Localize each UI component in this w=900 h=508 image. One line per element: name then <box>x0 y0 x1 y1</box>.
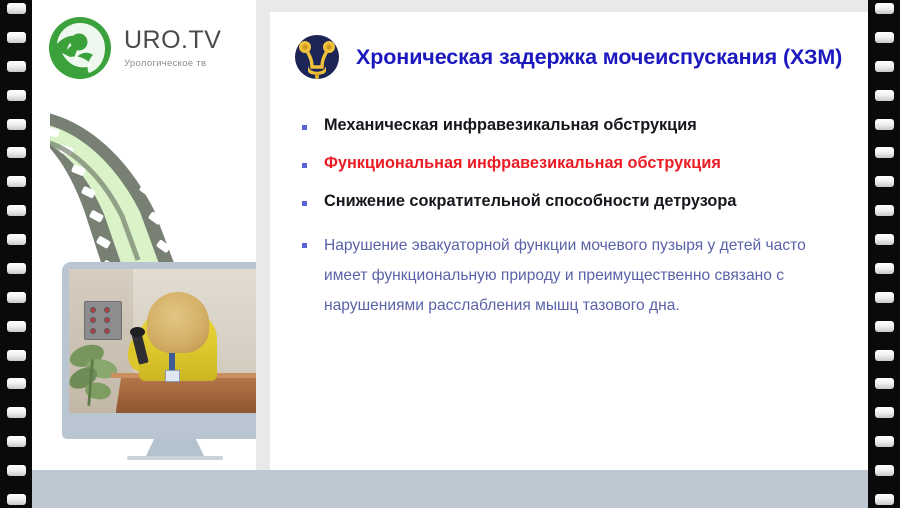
film-sprocket-hole <box>875 176 894 187</box>
film-sprocket-hole <box>7 436 26 447</box>
slide-title: Хроническая задержка мочеиспускания (ХЗМ… <box>356 45 842 70</box>
film-sprocket-hole <box>875 465 894 476</box>
list-item: Механическая инфравезикальная обструкция <box>302 116 846 135</box>
monitor-stand <box>146 439 204 456</box>
film-sprocket-hole <box>7 321 26 332</box>
film-sprocket-hole <box>7 494 26 505</box>
speaker-video-thumbnail[interactable] <box>62 262 256 460</box>
film-sprocket-hole <box>7 263 26 274</box>
bullet-text: Снижение сократительной способности детр… <box>324 192 736 211</box>
player-bottom-bar[interactable] <box>32 470 868 508</box>
branding-panel: URO.TV Урологическое тв <box>32 0 256 470</box>
bullet-marker-icon <box>302 243 307 248</box>
slide-header: Хроническая задержка мочеиспускания (ХЗМ… <box>270 12 868 80</box>
brand-title: URO.TV <box>124 28 221 53</box>
video-bezel <box>62 262 256 439</box>
list-item: Снижение сократительной способности детр… <box>302 192 846 211</box>
film-strip-right <box>868 0 900 508</box>
brand-subtitle: Урологическое тв <box>124 59 221 69</box>
film-sprocket-hole <box>7 205 26 216</box>
green-film-strip-icon <box>50 88 256 288</box>
bullet-marker-icon <box>302 201 307 206</box>
film-sprocket-hole <box>7 3 26 14</box>
film-sprocket-hole <box>875 205 894 216</box>
uro-swirl-logo-icon <box>48 16 112 80</box>
film-sprocket-hole <box>7 176 26 187</box>
film-sprocket-hole <box>875 32 894 43</box>
film-sprocket-hole <box>7 61 26 72</box>
film-sprocket-hole <box>7 292 26 303</box>
bullet-text: Механическая инфравезикальная обструкция <box>324 116 697 135</box>
film-sprocket-hole <box>875 263 894 274</box>
film-sprocket-hole <box>7 407 26 418</box>
film-sprocket-hole <box>875 350 894 361</box>
list-item: Нарушение эвакуаторной функции мочевого … <box>302 231 846 322</box>
film-sprocket-hole <box>7 378 26 389</box>
monitor-stand-base <box>127 456 223 460</box>
slide-bullet-list: Механическая инфравезикальная обструкция… <box>270 116 868 322</box>
film-sprocket-hole <box>875 90 894 101</box>
brand-logo[interactable]: URO.TV Урологическое тв <box>48 16 221 80</box>
podium-icon <box>116 376 256 413</box>
film-sprocket-hole <box>7 147 26 158</box>
bullet-marker-icon <box>302 125 307 130</box>
film-sprocket-hole <box>875 378 894 389</box>
film-sprocket-hole <box>875 234 894 245</box>
bullet-marker-icon <box>302 163 307 168</box>
film-sprocket-hole <box>875 436 894 447</box>
film-sprocket-hole <box>875 494 894 505</box>
film-sprocket-hole <box>875 407 894 418</box>
presentation-slide: Хроническая задержка мочеиспускания (ХЗМ… <box>270 12 868 470</box>
film-sprocket-hole <box>875 292 894 303</box>
list-item: Функциональная инфравезикальная обструкц… <box>302 154 846 173</box>
film-sprocket-hole <box>7 119 26 130</box>
film-sprocket-hole <box>875 119 894 130</box>
film-strip-left <box>0 0 32 508</box>
film-sprocket-hole <box>7 465 26 476</box>
film-sprocket-hole <box>7 90 26 101</box>
film-sprocket-hole <box>7 350 26 361</box>
bullet-text: Нарушение эвакуаторной функции мочевого … <box>324 231 846 322</box>
film-sprocket-hole <box>875 147 894 158</box>
urinary-tract-anatomy-icon <box>294 34 340 80</box>
bullet-text: Функциональная инфравезикальная обструкц… <box>324 154 721 173</box>
film-sprocket-hole <box>875 3 894 14</box>
video-player-screenshot: URO.TV Урологическое тв <box>0 0 900 508</box>
wall-switch-icon <box>84 301 122 340</box>
film-sprocket-hole <box>7 32 26 43</box>
film-sprocket-hole <box>875 321 894 332</box>
film-sprocket-hole <box>875 61 894 72</box>
film-sprocket-hole <box>7 234 26 245</box>
video-screen[interactable] <box>69 269 256 413</box>
